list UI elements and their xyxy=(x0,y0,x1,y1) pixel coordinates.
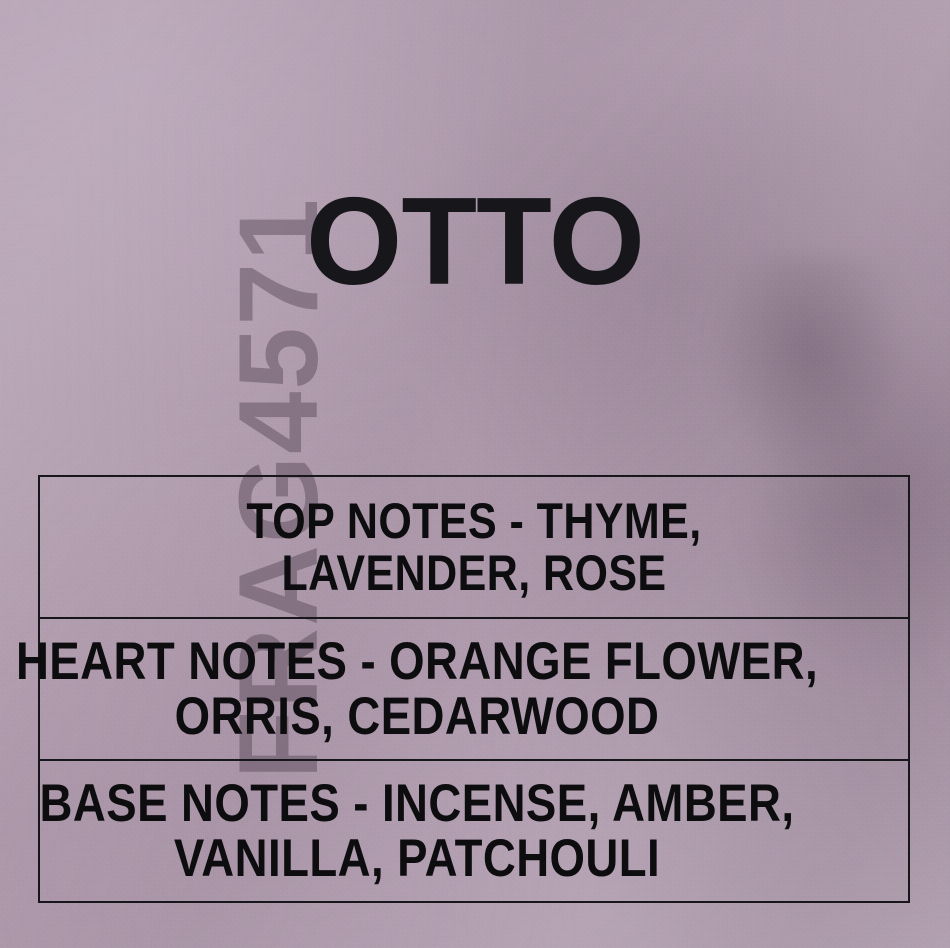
table-row-heart-notes: HEART NOTES - ORANGE FLOWER, ORRIS, CEDA… xyxy=(40,619,908,761)
top-notes-text: TOP NOTES - THYME, LAVENDER, ROSE xyxy=(121,495,826,599)
base-notes-text: BASE NOTES - INCENSE, AMBER, VANILLA, PA… xyxy=(0,776,839,886)
heart-notes-text: HEART NOTES - ORANGE FLOWER, ORRIS, CEDA… xyxy=(0,634,839,744)
table-row-top-notes: TOP NOTES - THYME, LAVENDER, ROSE xyxy=(40,477,908,619)
table-row-base-notes: BASE NOTES - INCENSE, AMBER, VANILLA, PA… xyxy=(40,761,908,901)
page-title: OTTO xyxy=(0,180,950,304)
fragrance-notes-table: TOP NOTES - THYME, LAVENDER, ROSE HEART … xyxy=(38,475,910,903)
fragrance-note-card: FRAG4571 OTTO TOP NOTES - THYME, LAVENDE… xyxy=(0,0,950,948)
